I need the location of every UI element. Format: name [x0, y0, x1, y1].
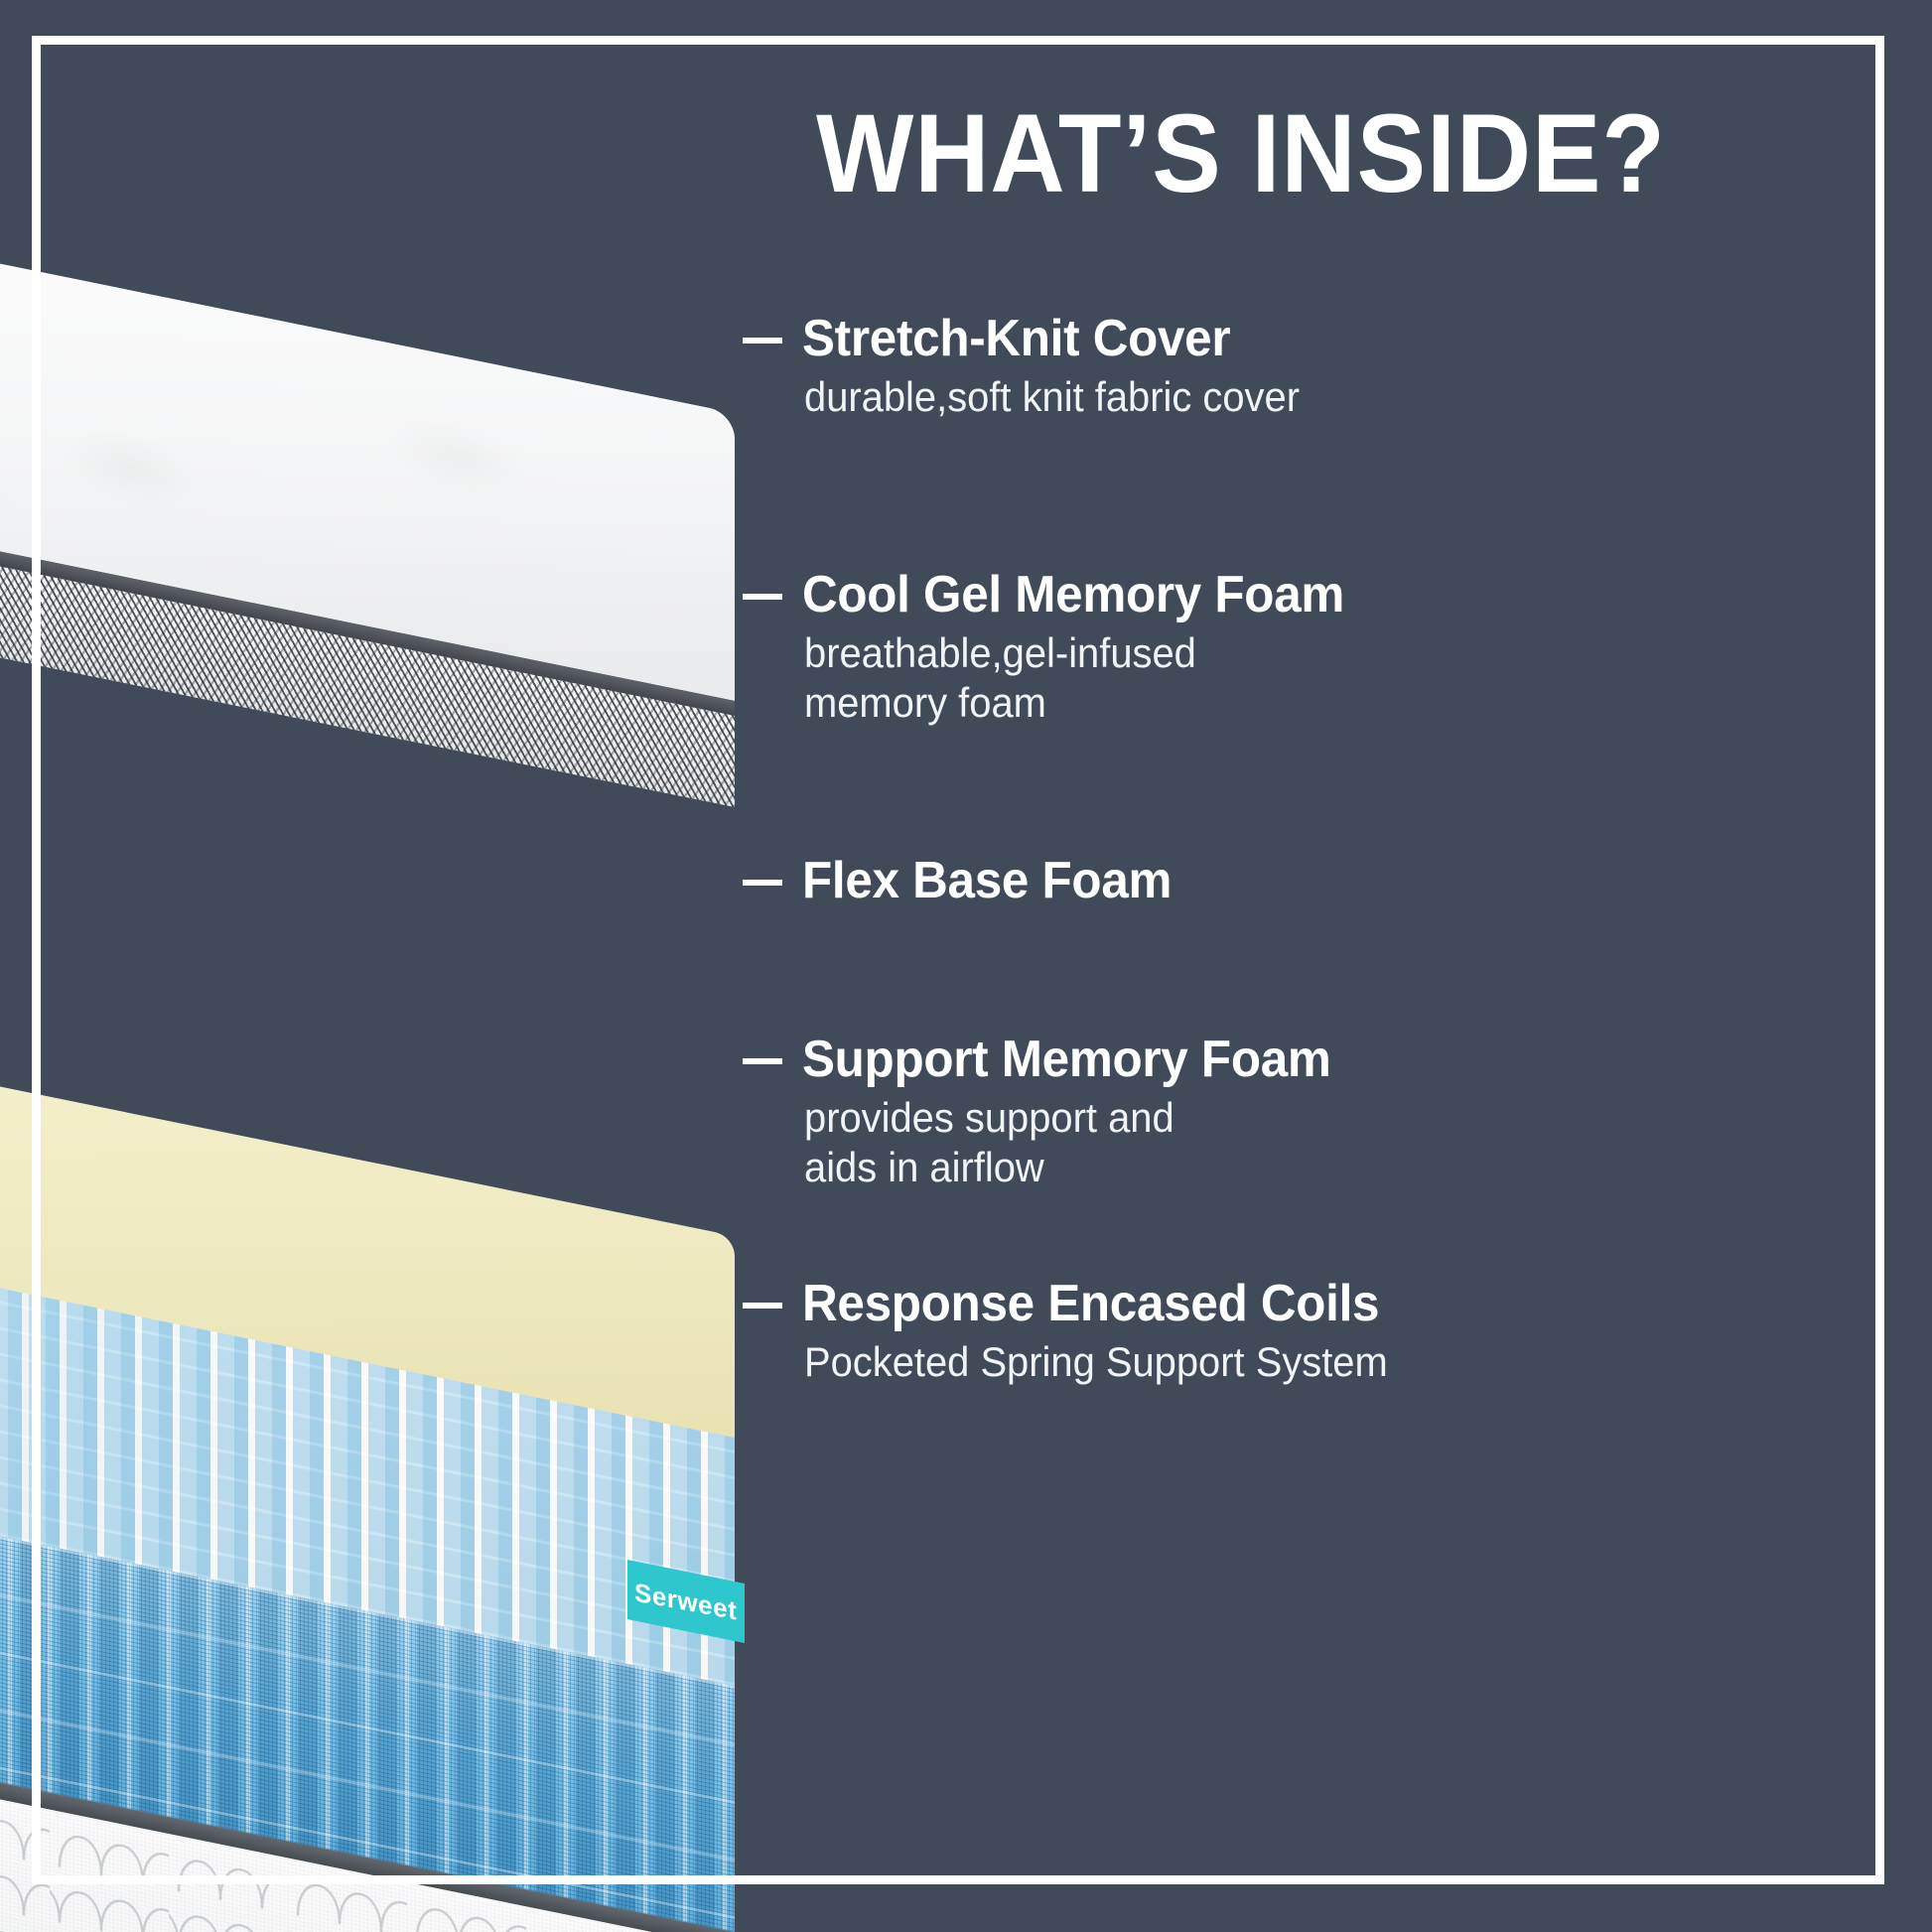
em-dash-icon	[743, 1303, 782, 1309]
feature-heading-row: Cool Gel Memory Foam	[743, 568, 1373, 622]
feature-heading-row: Flex Base Foam	[743, 854, 1191, 908]
encased-coils-and-base-layer	[0, 1201, 735, 1932]
infographic-canvas: Serweet WHAT’S INSIDE? Stretch-Knit Cove…	[0, 0, 1932, 1932]
illustration-right-mask	[764, 0, 1261, 1932]
feature-item-response-encased-coils: Response Encased Coils Pocketed Spring S…	[743, 1277, 1419, 1387]
feature-title: Response Encased Coils	[802, 1277, 1379, 1331]
feature-item-stretch-knit-cover: Stretch-Knit Cover durable,soft knit fab…	[743, 312, 1325, 422]
feature-title: Flex Base Foam	[802, 854, 1172, 908]
feature-subtitle: durable,soft knit fabric cover	[804, 372, 1300, 422]
mattress-exploded-illustration: Serweet	[0, 149, 764, 1926]
feature-heading-row: Response Encased Coils	[743, 1277, 1419, 1331]
feature-subtitle: Pocketed Spring Support System	[804, 1337, 1388, 1387]
feature-heading-row: Stretch-Knit Cover	[743, 312, 1325, 366]
feature-item-cool-gel-memory-foam: Cool Gel Memory Foam breathable,gel-infu…	[743, 568, 1373, 727]
em-dash-icon	[743, 594, 782, 600]
feature-subtitle: provides support and aids in airflow	[804, 1093, 1331, 1191]
feature-title: Cool Gel Memory Foam	[802, 568, 1344, 622]
feature-heading-row: Support Memory Foam	[743, 1033, 1359, 1087]
feature-title: Stretch-Knit Cover	[802, 312, 1230, 366]
em-dash-icon	[743, 1058, 782, 1064]
brand-name-label: Serweet	[634, 1577, 737, 1626]
feature-title: Support Memory Foam	[802, 1033, 1331, 1087]
feature-item-support-memory-foam: Support Memory Foam provides support and…	[743, 1033, 1359, 1191]
feature-item-flex-base-foam: Flex Base Foam	[743, 854, 1191, 914]
em-dash-icon	[743, 880, 782, 886]
em-dash-icon	[743, 338, 782, 344]
stretch-knit-cover-layer	[0, 177, 735, 571]
feature-subtitle: breathable,gel-infused memory foam	[804, 628, 1344, 727]
page-title: WHAT’S INSIDE?	[659, 95, 1823, 212]
